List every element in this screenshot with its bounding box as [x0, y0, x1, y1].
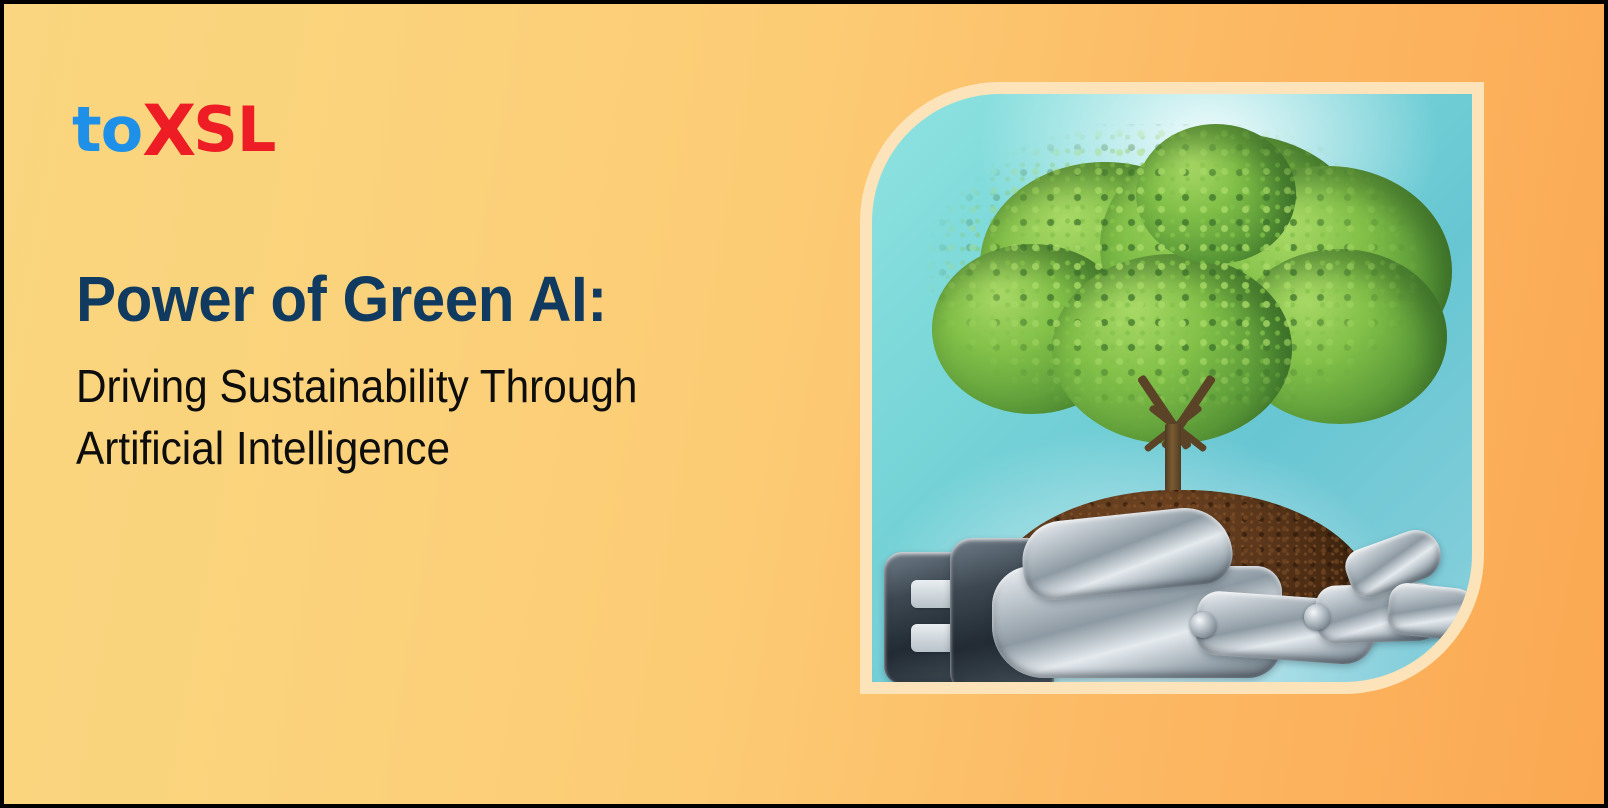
robot-hand-graphic: [872, 524, 1472, 682]
promo-banner: toXSL Power of Green AI: Driving Sustain…: [0, 0, 1608, 808]
toxsl-logo[interactable]: toXSL: [72, 92, 275, 162]
headline-block: Power of Green AI: Driving Sustainabilit…: [76, 266, 836, 479]
hero-image: [872, 94, 1472, 682]
robot-knuckle: [1190, 612, 1216, 638]
robot-knuckle: [1304, 604, 1330, 630]
logo-text-to: to: [72, 93, 142, 166]
logo-text-sl: SL: [193, 93, 275, 166]
robot-finger: [1386, 581, 1472, 642]
tree-canopy-lobe: [1136, 124, 1296, 264]
illustration-scene: [872, 94, 1472, 682]
logo-text-x: X: [142, 90, 193, 172]
hero-image-card: [860, 82, 1484, 694]
page-subtitle: Driving Sustainability Through Artificia…: [76, 355, 775, 479]
page-subtitle-line-2: Artificial Intelligence: [76, 417, 775, 479]
page-subtitle-line-1: Driving Sustainability Through: [76, 355, 775, 417]
page-title: Power of Green AI:: [76, 266, 790, 333]
